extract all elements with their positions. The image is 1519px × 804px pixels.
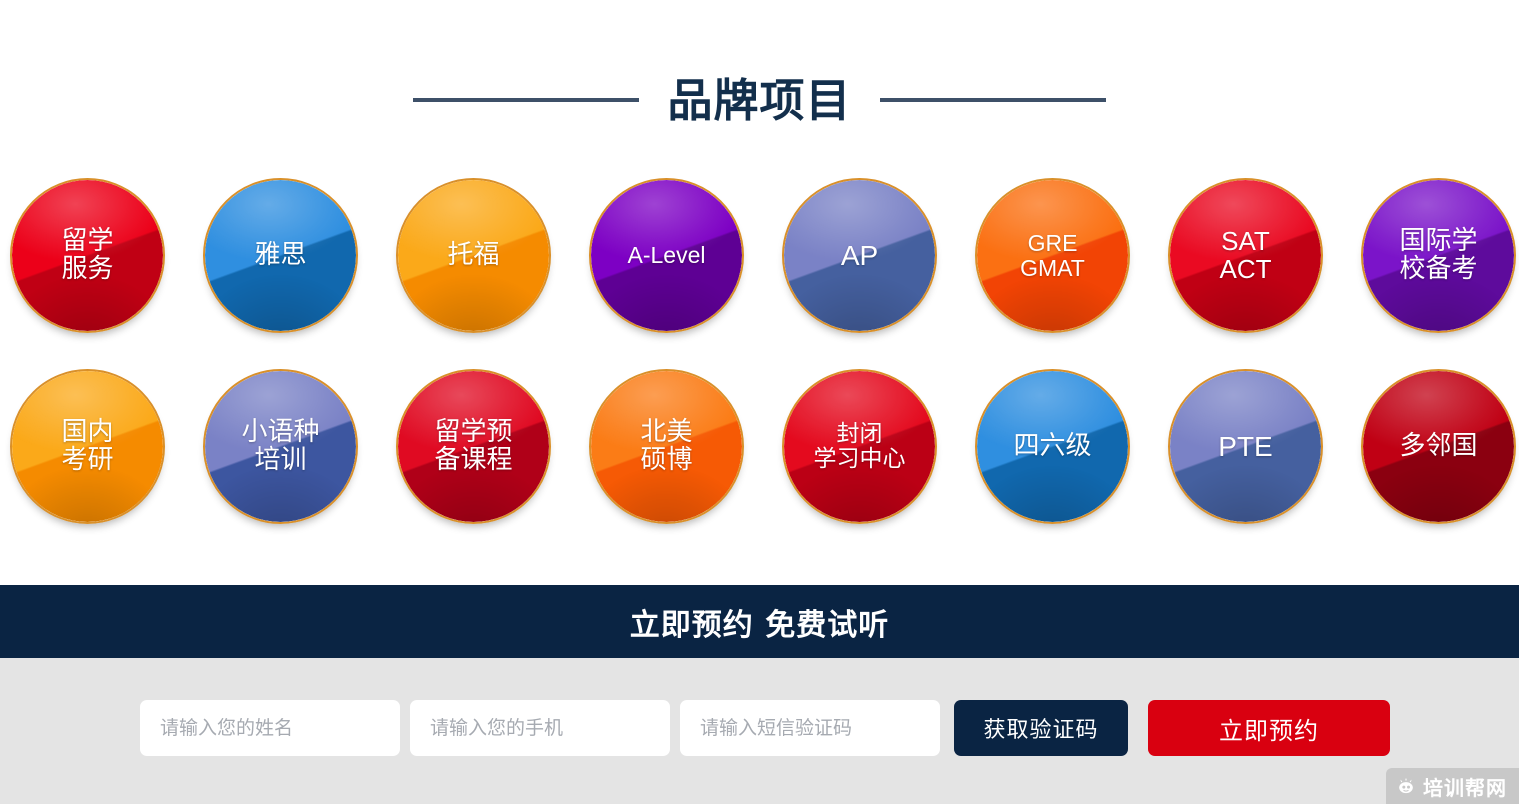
program-label-line: A-Level — [628, 243, 706, 267]
page-title: 品牌项目 — [667, 78, 851, 123]
get-code-button[interactable]: 获取验证码 — [954, 700, 1128, 756]
program-label-line: 留学 — [61, 228, 113, 256]
program-bubble[interactable]: 北美硕博 — [589, 369, 744, 524]
program-row-2: 国内考研小语种培训留学预备课程北美硕博封闭学习中心四六级PTE多邻国 — [0, 369, 1519, 524]
program-label: 多邻国 — [1393, 433, 1483, 461]
program-label-line: SAT — [1220, 228, 1272, 256]
program-bubble[interactable]: SATACT — [1168, 178, 1323, 333]
program-label-line: 校备考 — [1399, 256, 1477, 284]
submit-booking-button[interactable]: 立即预约 — [1148, 700, 1390, 756]
program-bubble[interactable]: 四六级 — [975, 369, 1130, 524]
program-label-line: 小语种 — [241, 419, 319, 447]
program-bubble[interactable]: 小语种培训 — [203, 369, 358, 524]
brand-programs-page: 品牌项目 留学服务雅思托福A-LevelAPGREGMATSATACT国际学校备… — [0, 0, 1519, 804]
program-label-line: 国际学 — [1399, 228, 1477, 256]
program-label: 留学预备课程 — [428, 419, 518, 474]
program-label: 小语种培训 — [235, 419, 325, 474]
program-label: A-Level — [622, 243, 712, 267]
booking-banner: 立即预约 免费试听 — [0, 585, 1519, 658]
program-label-line: 备课程 — [434, 447, 512, 475]
program-bubble[interactable]: 留学预备课程 — [396, 369, 551, 524]
watermark-label: 培训帮网 — [1423, 772, 1507, 801]
program-label-line: 考研 — [61, 447, 113, 475]
program-label: 国内考研 — [55, 419, 119, 474]
site-watermark: 培训帮网 — [1386, 768, 1519, 804]
program-bubble[interactable]: AP — [782, 178, 937, 333]
program-label: PTE — [1212, 432, 1278, 462]
section-heading: 品牌项目 — [0, 62, 1519, 138]
program-label-line: ACT — [1220, 256, 1272, 284]
program-label: 雅思 — [248, 242, 312, 270]
program-label-line: 学习中心 — [814, 447, 906, 471]
program-label-line: 四六级 — [1013, 433, 1091, 461]
program-label-line: 培训 — [241, 447, 319, 475]
program-label-line: AP — [841, 241, 878, 271]
verification-code-input[interactable] — [680, 700, 940, 756]
program-label-line: GRE — [1020, 231, 1085, 255]
program-label: GREGMAT — [1014, 231, 1091, 280]
program-row-1: 留学服务雅思托福A-LevelAPGREGMATSATACT国际学校备考 — [0, 178, 1519, 333]
program-bubble[interactable]: GREGMAT — [975, 178, 1130, 333]
program-bubble[interactable]: A-Level — [589, 178, 744, 333]
program-label-line: 托福 — [447, 242, 499, 270]
heading-rule-right — [880, 98, 1106, 102]
booking-form: 获取验证码 立即预约 — [0, 658, 1519, 804]
program-label: 北美硕博 — [634, 419, 698, 474]
program-label-line: 服务 — [61, 256, 113, 284]
program-label-line: 硕博 — [640, 447, 692, 475]
program-label-line: 北美 — [640, 419, 692, 447]
name-input[interactable] — [140, 700, 400, 756]
program-bubble[interactable]: 雅思 — [203, 178, 358, 333]
program-label-line: 雅思 — [254, 242, 306, 270]
program-label-line: PTE — [1218, 432, 1272, 462]
program-label: AP — [835, 241, 884, 271]
program-label: 封闭学习中心 — [808, 422, 912, 471]
banner-title: 立即预约 免费试听 — [630, 600, 889, 644]
heading-rule-left — [413, 98, 639, 102]
program-label: 托福 — [441, 242, 505, 270]
program-bubble[interactable]: 留学服务 — [10, 178, 165, 333]
eye-icon — [1396, 776, 1416, 796]
program-label: 国际学校备考 — [1393, 228, 1483, 283]
phone-input[interactable] — [410, 700, 670, 756]
program-label: SATACT — [1214, 228, 1278, 283]
program-label-line: 国内 — [61, 419, 113, 447]
program-label-line: 留学预 — [434, 419, 512, 447]
program-label-line: GMAT — [1020, 256, 1085, 280]
form-fields: 获取验证码 立即预约 — [140, 700, 1390, 756]
program-label-line: 多邻国 — [1399, 433, 1477, 461]
program-bubble[interactable]: 封闭学习中心 — [782, 369, 937, 524]
program-bubble[interactable]: PTE — [1168, 369, 1323, 524]
program-bubble[interactable]: 国际学校备考 — [1361, 178, 1516, 333]
program-label: 四六级 — [1007, 433, 1097, 461]
program-label-line: 封闭 — [814, 422, 906, 446]
program-bubble[interactable]: 托福 — [396, 178, 551, 333]
program-bubble[interactable]: 多邻国 — [1361, 369, 1516, 524]
program-bubble[interactable]: 国内考研 — [10, 369, 165, 524]
program-grid: 留学服务雅思托福A-LevelAPGREGMATSATACT国际学校备考 国内考… — [0, 178, 1519, 524]
program-label: 留学服务 — [55, 228, 119, 283]
